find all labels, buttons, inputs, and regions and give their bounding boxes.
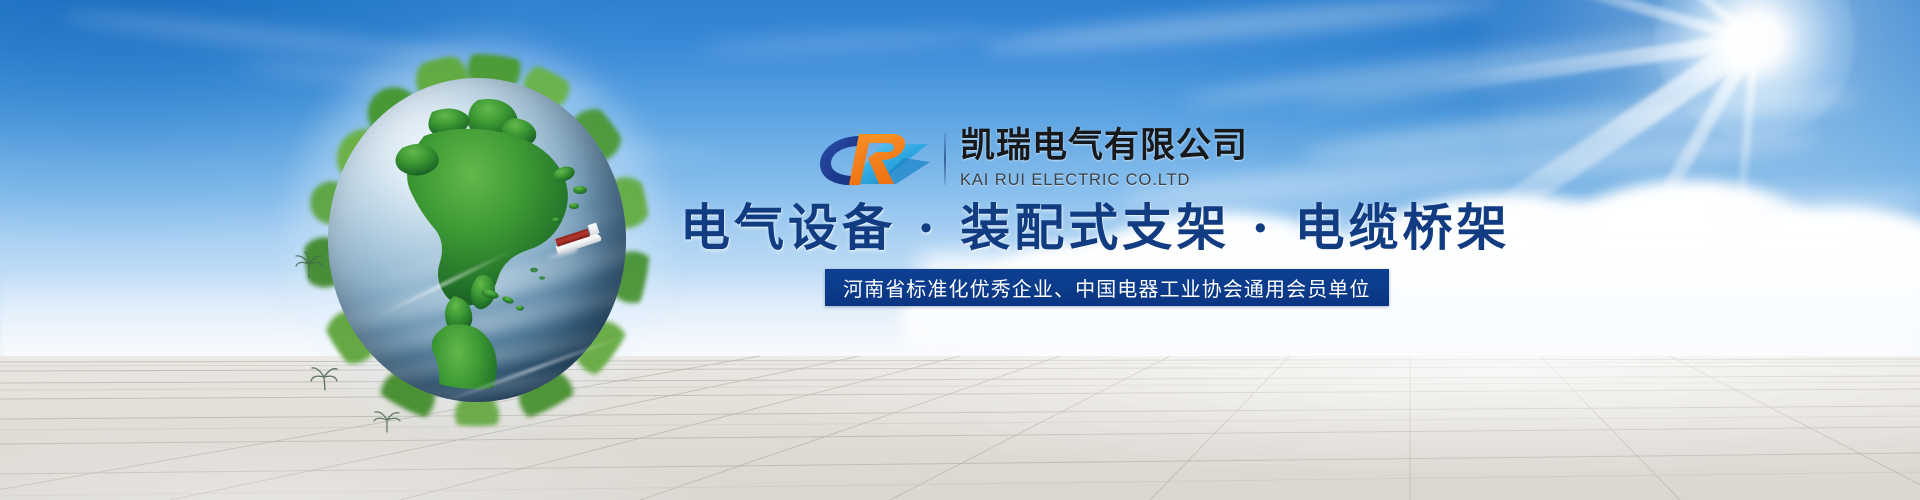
banner-content: 凯瑞电气有限公司 KAI RUI ELECTRIC CO.LTD 电气设备 · … bbox=[676, 0, 1676, 500]
earth-globe-icon bbox=[276, 32, 676, 450]
credentials-badge-text: 河南省标准化优秀企业、中国电器工业协会通用会员单位 bbox=[843, 273, 1371, 302]
brand-divider bbox=[944, 133, 946, 185]
company-hero-banner: 凯瑞电气有限公司 KAI RUI ELECTRIC CO.LTD 电气设备 · … bbox=[0, 0, 1920, 500]
banner-tagline: 电气设备 · 装配式支架 · 电缆桥架 bbox=[680, 188, 1660, 260]
credentials-badge: 河南省标准化优秀企业、中国电器工业协会通用会员单位 bbox=[825, 269, 1389, 306]
palm-tree-icon bbox=[310, 362, 340, 392]
cr-monogram-logo bbox=[816, 128, 938, 190]
company-name-cn: 凯瑞电气有限公司 bbox=[960, 128, 1248, 165]
palm-tree-icon bbox=[372, 404, 402, 434]
palm-tree-icon bbox=[294, 250, 324, 280]
brand-lockup[interactable]: 凯瑞电气有限公司 KAI RUI ELECTRIC CO.LTD bbox=[816, 128, 1248, 190]
company-name-en: KAI RUI ELECTRIC CO.LTD bbox=[960, 171, 1248, 190]
